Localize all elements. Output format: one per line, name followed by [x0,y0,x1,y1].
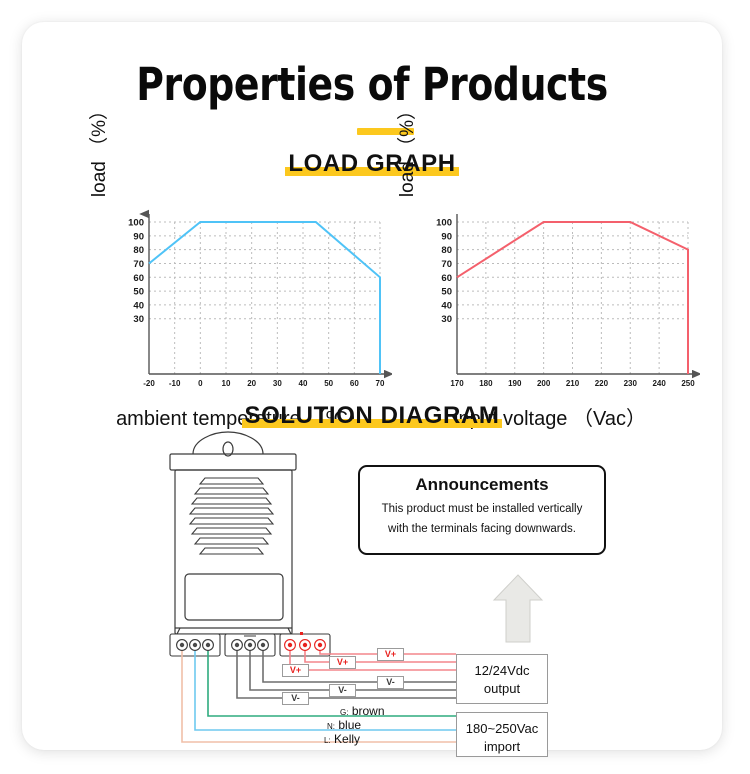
chart-derating-voltage: 30405060708090100 1701801902002102202302… [400,200,700,400]
svg-text:40: 40 [441,300,452,311]
announcement-line-1: This product must be installed verticall… [360,503,604,515]
ac-input-box: 180~250Vac import [456,712,548,757]
chart-right-ylabel: load （%） [392,101,419,197]
svg-text:200: 200 [537,379,551,388]
svg-text:100: 100 [128,218,144,229]
tag-v-positive-3: V+ [282,664,309,677]
svg-text:30: 30 [441,314,452,325]
svg-text:30: 30 [133,314,144,325]
ac-wires [182,651,456,742]
content-card: Properties of Products LOAD GRAPH [22,22,722,750]
tag-v-negative-3: V- [282,692,309,705]
svg-text:50: 50 [133,287,144,298]
chart-left-ylabel-wrap: load （%） [84,84,110,214]
svg-text:-20: -20 [143,379,155,388]
svg-text:0: 0 [198,379,203,388]
wire-label-l: L: Kelly [324,732,360,746]
svg-text:250: 250 [681,379,695,388]
svg-text:50: 50 [441,287,452,298]
svg-text:40: 40 [133,300,144,311]
svg-text:80: 80 [133,245,144,256]
svg-text:90: 90 [441,231,452,242]
announcement-line-2: with the terminals facing downwards. [360,523,604,535]
ac-input-label: import [457,739,547,754]
chart-derating-voltage-svg: 30405060708090100 1701801902002102202302… [400,200,700,400]
svg-text:80: 80 [441,245,452,256]
page-root: Properties of Products LOAD GRAPH [0,0,750,774]
tag-v-negative-1: V- [377,676,404,689]
announcement-box: Announcements This product must be insta… [358,465,606,555]
tag-v-negative-2: V- [329,684,356,697]
dc-output-voltage: 12/24Vdc [457,663,547,678]
wire-label-g: G: brown [340,704,385,718]
svg-text:70: 70 [133,259,144,270]
tag-v-positive-2: V+ [329,656,356,669]
chart-left-ylabel: load （%） [84,101,111,197]
announcement-title: Announcements [360,475,604,495]
dc-output-label: output [457,681,547,696]
section-heading-solution-diagram-text: SOLUTION DIAGRAM [245,402,500,429]
power-supply-illustration [170,432,296,636]
svg-text:40: 40 [299,379,308,388]
svg-text:230: 230 [624,379,638,388]
svg-text:240: 240 [652,379,666,388]
chart-derating-temperature: 30405060708090100 -20-10010203040506070 … [92,200,392,400]
svg-text:60: 60 [133,273,144,284]
wire-label-n-color: blue [338,718,361,732]
svg-text:190: 190 [508,379,522,388]
svg-text:100: 100 [436,218,452,229]
svg-text:170: 170 [450,379,464,388]
svg-text:60: 60 [350,379,359,388]
wire-label-n: N: blue [327,718,361,732]
svg-text:90: 90 [133,231,144,242]
svg-text:-10: -10 [169,379,181,388]
svg-text:180: 180 [479,379,493,388]
svg-text:210: 210 [566,379,580,388]
ac-wire-l [182,651,456,742]
svg-text:30: 30 [273,379,282,388]
chart-right-ylabel-wrap: load （%） [392,84,418,214]
svg-text:70: 70 [441,259,452,270]
wire-label-g-color: brown [352,704,385,718]
svg-text:10: 10 [222,379,231,388]
solution-diagram: Announcements This product must be insta… [22,422,722,750]
wire-label-l-color: Kelly [334,732,360,746]
svg-text:50: 50 [324,379,333,388]
ac-input-voltage: 180~250Vac [457,721,547,736]
dc-output-box: 12/24Vdc output [456,654,548,704]
section-heading-load-graph-text: LOAD GRAPH [288,150,455,177]
section-heading-load-graph: LOAD GRAPH [22,150,722,178]
up-arrow-icon [494,575,542,642]
tag-v-positive-1: V+ [377,648,404,661]
svg-text:220: 220 [595,379,609,388]
page-title: Properties of Products [78,58,666,111]
svg-text:60: 60 [441,273,452,284]
chart-derating-temperature-svg: 30405060708090100 -20-10010203040506070 [92,200,392,400]
svg-text:20: 20 [247,379,256,388]
svg-text:70: 70 [376,379,385,388]
